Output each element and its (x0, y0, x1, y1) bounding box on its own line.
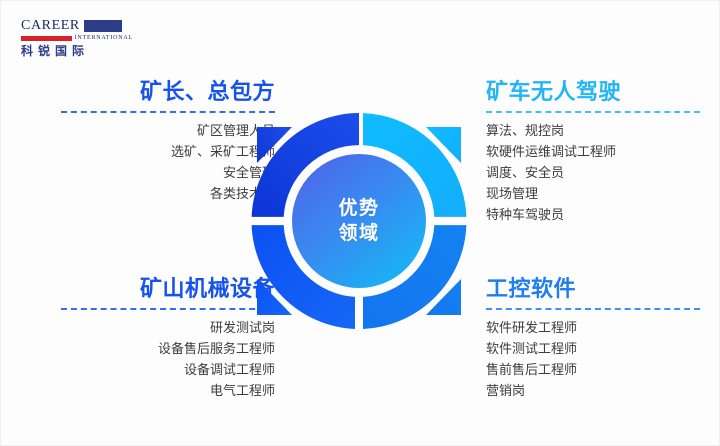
logo-career-text: CAREER (21, 19, 80, 33)
donut-center-disc (292, 154, 426, 288)
logo-top-row: CAREER (21, 18, 133, 33)
list-item: 安全管理 (61, 162, 275, 183)
list-item: 各类技术员 (61, 183, 275, 204)
slide-canvas: CAREER INTERNATIONAL 科锐国际 矿长、总包方 矿区管理人员 … (0, 0, 720, 446)
list-item: 研发测试岗 (61, 317, 275, 338)
list-item: 现场管理 (486, 183, 700, 204)
list-item: 营销岗 (486, 380, 700, 401)
quadrant-divider-top-left (61, 111, 275, 113)
list-item: 设备售后服务工程师 (61, 338, 275, 359)
quadrant-divider-bottom-left (61, 308, 275, 310)
list-item: 售前售后工程师 (486, 359, 700, 380)
quadrant-block-top-right: 矿车无人驾驶 算法、规控岗 软硬件运维调试工程师 调度、安全员 现场管理 特种车… (486, 79, 700, 225)
quadrant-divider-bottom-right (486, 308, 700, 310)
list-item: 软件测试工程师 (486, 338, 700, 359)
logo-navy-block (84, 20, 122, 32)
list-item: 软件研发工程师 (486, 317, 700, 338)
company-logo: CAREER INTERNATIONAL 科锐国际 (21, 18, 133, 56)
donut-diagram: 优势 领域 (244, 106, 474, 336)
quadrant-title-top-right: 矿车无人驾驶 (486, 79, 700, 105)
quadrant-list-bottom-right: 软件研发工程师 软件测试工程师 售前售后工程师 营销岗 (486, 317, 700, 401)
list-item: 算法、规控岗 (486, 120, 700, 141)
quadrant-divider-top-right (486, 111, 700, 113)
logo-chinese-name: 科锐国际 (21, 45, 133, 58)
quadrant-list-top-right: 算法、规控岗 软硬件运维调试工程师 调度、安全员 现场管理 特种车驾驶员 (486, 120, 700, 225)
logo-middle-row: INTERNATIONAL (21, 34, 133, 42)
list-item: 软硬件运维调试工程师 (486, 141, 700, 162)
list-item: 选矿、采矿工程师 (61, 141, 275, 162)
quadrant-title-top-left: 矿长、总包方 (61, 79, 275, 105)
quadrant-title-bottom-right: 工控软件 (486, 276, 700, 302)
list-item: 特种车驾驶员 (486, 204, 700, 225)
list-item: 调度、安全员 (486, 162, 700, 183)
quadrant-block-bottom-right: 工控软件 软件研发工程师 软件测试工程师 售前售后工程师 营销岗 (486, 276, 700, 401)
quadrant-block-top-left: 矿长、总包方 矿区管理人员 选矿、采矿工程师 安全管理 各类技术员 (61, 79, 275, 204)
logo-international-text: INTERNATIONAL (75, 35, 133, 42)
quadrant-block-bottom-left: 矿山机械设备 研发测试岗 设备售后服务工程师 设备调试工程师 电气工程师 (61, 276, 275, 401)
list-item: 设备调试工程师 (61, 359, 275, 380)
quadrant-title-bottom-left: 矿山机械设备 (61, 276, 275, 302)
quadrant-list-top-left: 矿区管理人员 选矿、采矿工程师 安全管理 各类技术员 (61, 120, 275, 204)
quadrant-list-bottom-left: 研发测试岗 设备售后服务工程师 设备调试工程师 电气工程师 (61, 317, 275, 401)
list-item: 电气工程师 (61, 380, 275, 401)
list-item: 矿区管理人员 (61, 120, 275, 141)
logo-red-bar (21, 36, 72, 41)
donut-svg (244, 106, 474, 336)
